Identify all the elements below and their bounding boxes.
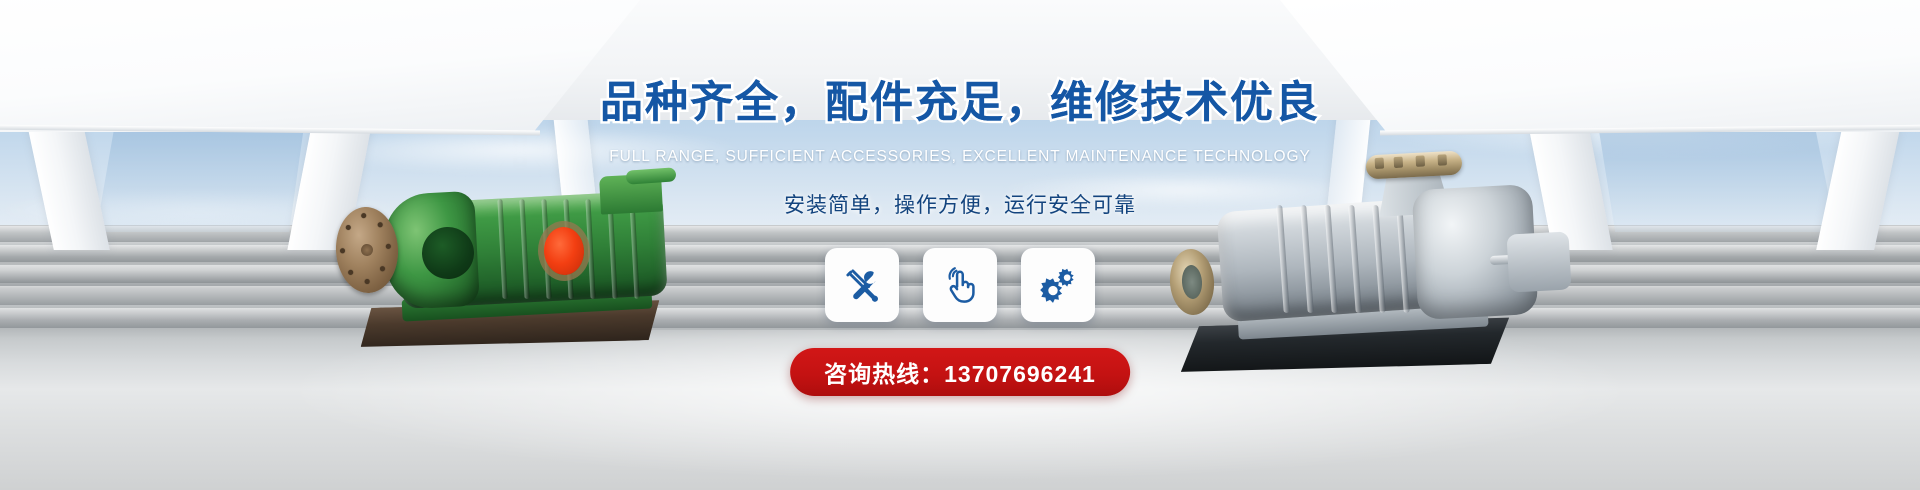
hand-click-icon [940, 265, 980, 305]
subtitle-chinese: 安装简单，操作方便，运行安全可靠 [0, 189, 1920, 219]
feature-icon-box-gears[interactable] [1021, 248, 1095, 322]
hotline-badge[interactable]: 咨询热线：13707696241 [790, 348, 1130, 396]
gears-icon [1038, 265, 1078, 305]
feature-icon-box-tools[interactable] [825, 248, 899, 322]
feature-icon-row [0, 248, 1920, 322]
feature-icon-box-hand[interactable] [923, 248, 997, 322]
subtitle-english: FULL RANGE, SUFFICIENT ACCESSORIES, EXCE… [0, 148, 1920, 166]
tools-icon [842, 265, 882, 305]
banner-content: 品种齐全，配件充足，维修技术优良 品种齐全，配件充足，维修技术优良 FULL R… [0, 0, 1920, 490]
promo-banner: 品种齐全，配件充足，维修技术优良 品种齐全，配件充足，维修技术优良 FULL R… [0, 0, 1920, 490]
page-title: 品种齐全，配件充足，维修技术优良 [0, 68, 1920, 130]
